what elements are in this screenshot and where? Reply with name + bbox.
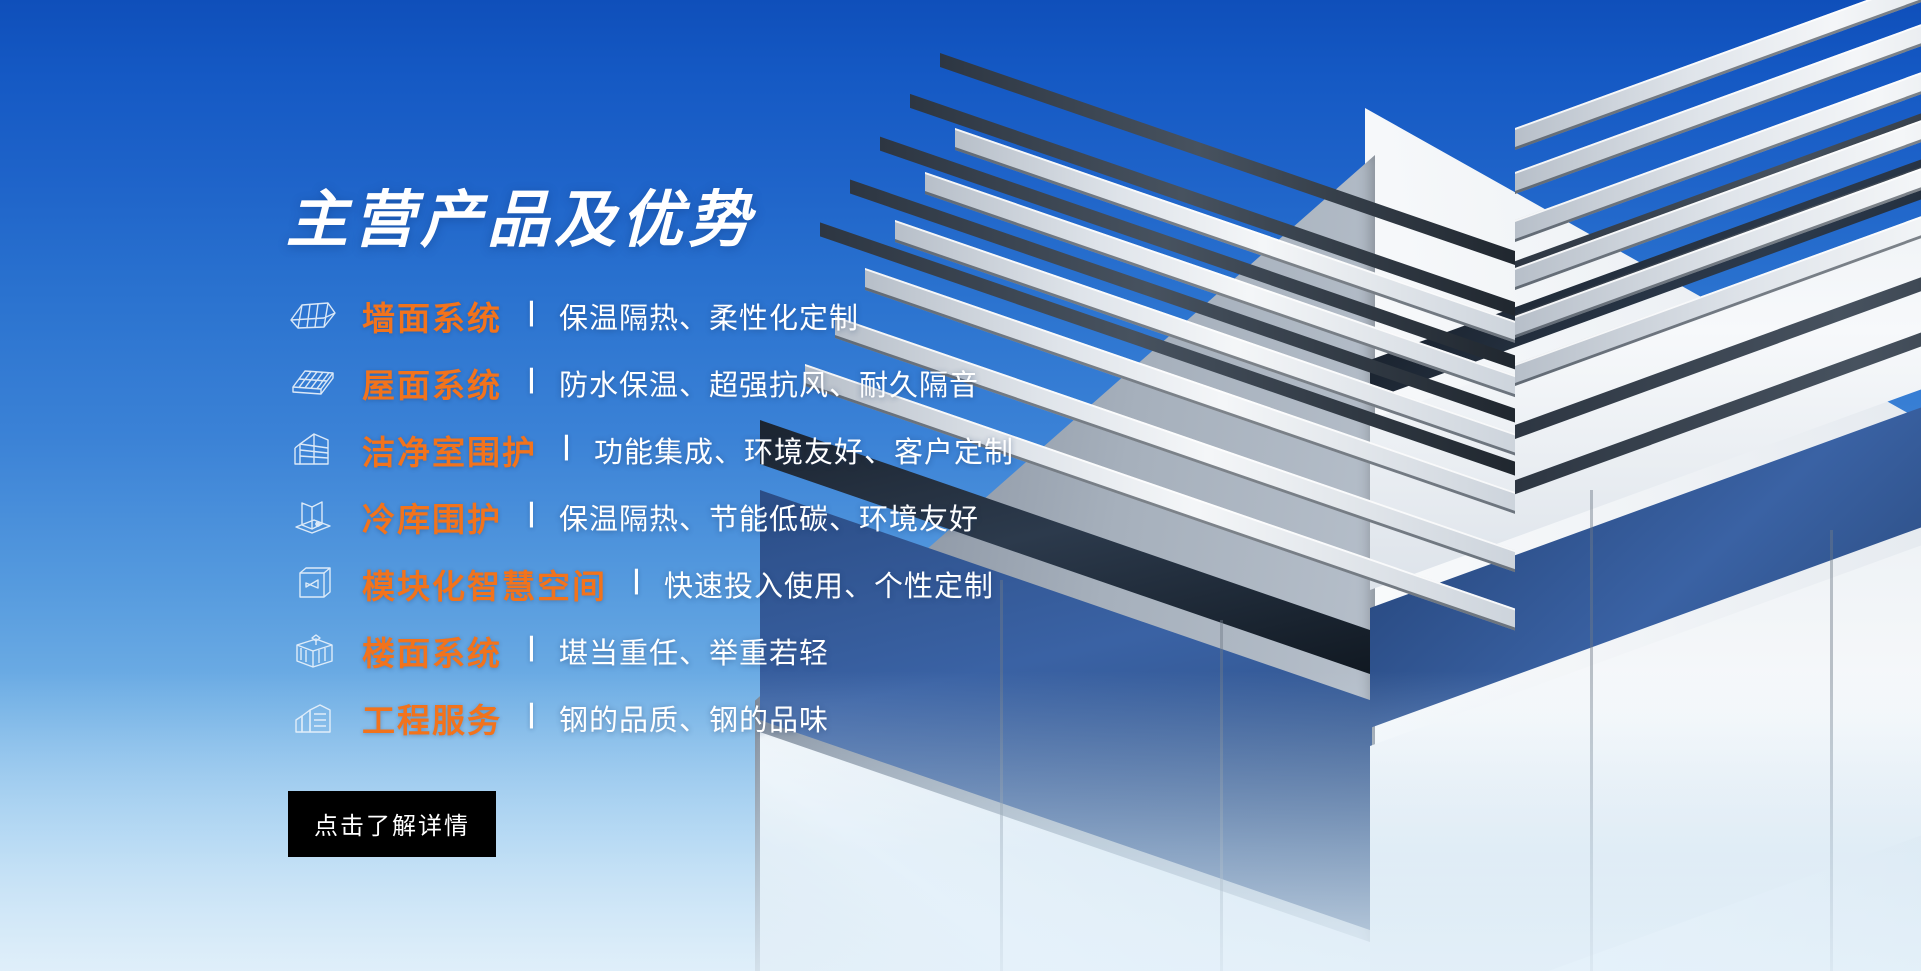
facade-seam (1830, 530, 1833, 971)
separator: 丨 (553, 436, 580, 463)
list-item[interactable]: 楼面系统 丨 堪当重任、举重若轻 (286, 617, 1000, 684)
list-item[interactable]: 洁净室围护 丨 功能集成、环境友好、客户定制 (286, 416, 1000, 483)
building-face-right (1365, 108, 1921, 971)
modular-cube-icon (286, 562, 340, 606)
separator: 丨 (518, 302, 545, 329)
product-label: 冷库围护 (362, 493, 502, 541)
separator: 丨 (623, 570, 650, 597)
glazing-panel-right (1370, 260, 1921, 728)
learn-more-button[interactable]: 点击了解详情 (288, 791, 496, 857)
product-desc: 钢的品质、钢的品味 (559, 697, 829, 739)
page-title: 主营产品及优势 (286, 190, 1000, 252)
separator: 丨 (518, 637, 545, 664)
wall-panel-icon (286, 294, 340, 338)
separator: 丨 (518, 369, 545, 396)
product-desc: 防水保温、超强抗风、耐久隔音 (559, 362, 979, 404)
list-item[interactable]: 屋面系统 丨 防水保温、超强抗风、耐久隔音 (286, 349, 1000, 416)
separator: 丨 (518, 704, 545, 731)
product-desc: 功能集成、环境友好、客户定制 (594, 429, 1014, 471)
product-label: 墙面系统 (362, 292, 502, 340)
wall-panel-right-lower (1370, 398, 1921, 971)
wall-panel-right-upper (1370, 72, 1921, 590)
product-desc: 保温隔热、节能低碳、环境友好 (559, 496, 979, 538)
floor-system-icon (286, 629, 340, 673)
product-desc: 堪当重任、举重若轻 (559, 630, 829, 672)
list-item[interactable]: 冷库围护 丨 保温隔热、节能低碳、环境友好 (286, 483, 1000, 550)
cold-storage-icon (286, 495, 340, 539)
product-label: 屋面系统 (362, 359, 502, 407)
product-desc: 保温隔热、柔性化定制 (559, 295, 859, 337)
engineering-service-icon (286, 696, 340, 740)
product-label: 洁净室围护 (362, 426, 537, 474)
facade-seam (1000, 580, 1003, 971)
list-item[interactable]: 工程服务 丨 钢的品质、钢的品味 (286, 684, 1000, 751)
list-item[interactable]: 墙面系统 丨 保温隔热、柔性化定制 (286, 282, 1000, 349)
facade-seam (1220, 620, 1223, 971)
product-label: 模块化智慧空间 (362, 560, 607, 608)
facade-seam (1590, 490, 1593, 971)
product-label: 工程服务 (362, 694, 502, 742)
product-banner: 主营产品及优势 墙面系统 丨 保温隔热、柔性化定制 (0, 0, 1921, 971)
cleanroom-icon (286, 428, 340, 472)
product-label: 楼面系统 (362, 627, 502, 675)
product-desc: 快速投入使用、个性定制 (664, 563, 994, 605)
roof-panel-icon (286, 361, 340, 405)
list-item[interactable]: 模块化智慧空间 丨 快速投入使用、个性定制 (286, 550, 1000, 617)
banner-content: 主营产品及优势 墙面系统 丨 保温隔热、柔性化定制 (0, 0, 1000, 971)
separator: 丨 (518, 503, 545, 530)
window-ribbon-right (1370, 12, 1921, 400)
product-list: 墙面系统 丨 保温隔热、柔性化定制 屋面系统 丨 防水保温、超强抗风、耐久隔音 (286, 282, 1000, 751)
